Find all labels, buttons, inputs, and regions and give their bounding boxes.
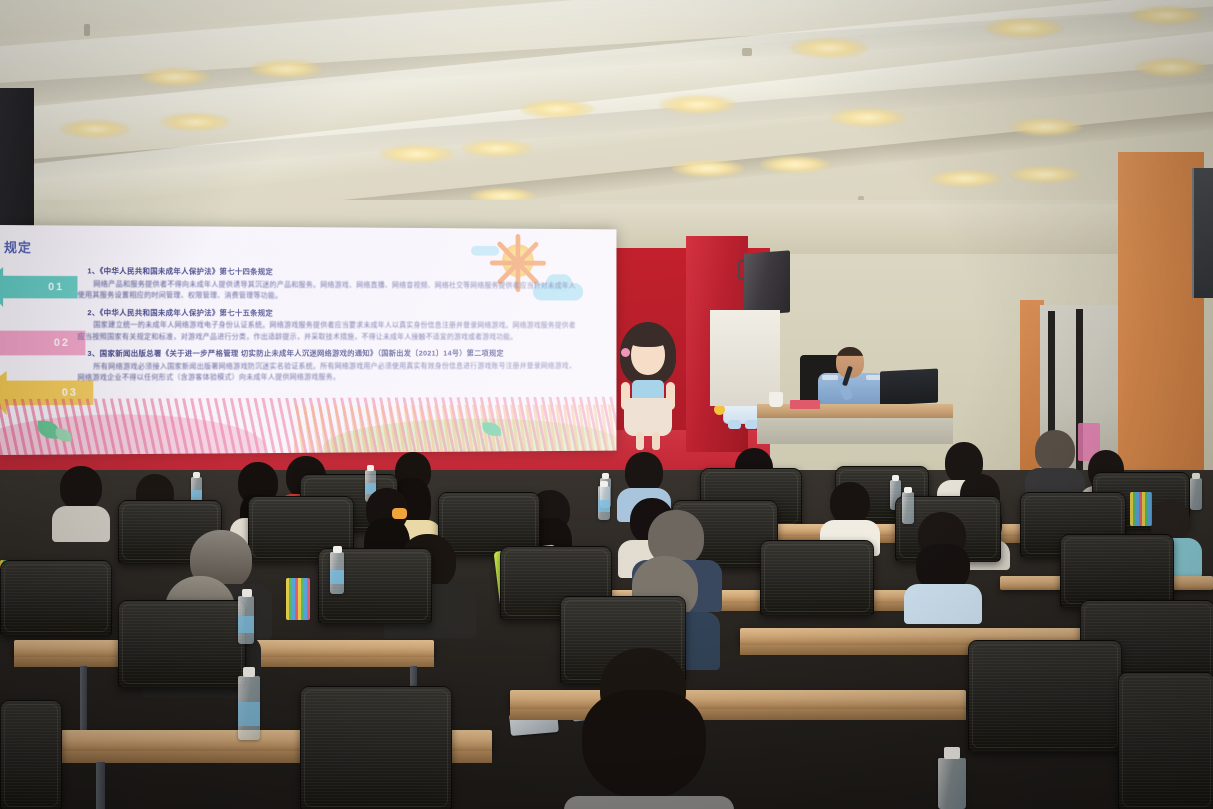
projection-screen: 规定 01 02 03 1、《中华人民共和国未成年人保护法》第七十四条规定 网络… (0, 225, 616, 455)
water-bottle (1190, 478, 1202, 510)
chair[interactable] (968, 640, 1122, 752)
slide-section-2-body: 国家建立统一的未成年人网络游戏电子身份认证系统。网络游戏服务提供者应当要求未成年… (78, 319, 576, 342)
slide-section-1-body: 网络产品和服务提供者不得向未成年人提供诱导其沉迷的产品和服务。网络游戏、网络直播… (78, 278, 576, 302)
pen-holder (286, 578, 310, 620)
desk-leg (80, 666, 87, 736)
water-bottle (238, 596, 254, 644)
ceiling-downlight (930, 170, 1002, 187)
ceiling-downlight (520, 100, 594, 118)
hair-tie (392, 508, 407, 519)
ceiling-downlight (672, 160, 744, 177)
chair[interactable] (300, 686, 452, 809)
desk-leg (96, 762, 105, 809)
chair[interactable] (1060, 534, 1174, 608)
chair[interactable] (760, 540, 874, 616)
uniform-epaulette (822, 375, 838, 380)
ceiling-downlight (1010, 118, 1082, 136)
pen-holder (1130, 492, 1152, 526)
slide-marker-03-label: 03 (62, 387, 78, 399)
ceiling-downlight (790, 38, 868, 58)
desk (510, 690, 966, 710)
water-bottle (938, 758, 966, 809)
ceiling-downlight (60, 120, 130, 138)
sprinkler-head (84, 24, 90, 36)
slide-section-2-heading: 2、《中华人民共和国未成年人保护法》第七十五条规定 (87, 307, 575, 319)
presenter-desk-front (757, 418, 953, 444)
ceiling-downlight (830, 108, 906, 127)
wall-speaker-icon (744, 250, 790, 315)
laptop[interactable] (880, 368, 938, 405)
chair[interactable] (0, 700, 62, 809)
desk-edge (510, 709, 966, 720)
cartoon-girl-cutout (612, 322, 684, 450)
ceiling-downlight (250, 60, 322, 78)
water-bottle (238, 676, 260, 740)
desk-nameplate (790, 400, 820, 409)
ceiling-downlight (985, 18, 1063, 38)
hair-flower-icon (621, 348, 630, 357)
water-bottle (330, 552, 344, 594)
slide-stripe-decor (294, 404, 615, 452)
ceiling-downlight (462, 140, 532, 157)
slide-body: 1、《中华人民共和国未成年人保护法》第七十四条规定 网络产品和服务提供者不得向未… (78, 265, 576, 389)
slide-marker-02-label: 02 (54, 337, 70, 349)
chair[interactable] (118, 600, 246, 688)
ceiling-downlight (1010, 166, 1080, 183)
lecture-room-photo: 规定 01 02 03 1、《中华人民共和国未成年人保护法》第七十四条规定 网络… (0, 0, 1213, 809)
wall-panel-upper (560, 204, 1213, 254)
smoke-detector (742, 48, 752, 56)
ceiling-downlight (760, 156, 830, 173)
ceiling-downlight (140, 68, 210, 86)
slide-section-3-body: 所有网络游戏必须接入国家新闻出版署网络游戏防沉迷实名验证系统。所有网络游戏用户必… (78, 360, 576, 383)
ceiling-downlight (660, 95, 736, 114)
water-bottle (598, 486, 610, 520)
wall-display-panel (1192, 168, 1213, 298)
chair[interactable] (0, 560, 112, 636)
slide-heading: 规定 (4, 237, 32, 256)
ceiling-downlight (380, 145, 454, 163)
ceiling-downlight (1135, 58, 1207, 77)
cloud-icon (471, 246, 499, 256)
slide-marker-01-label: 01 (48, 281, 64, 293)
slide-section-3-heading: 3、国家新闻出版总署《关于进一步严格管理 切实防止未成年人沉迷网络游戏的通知》（… (87, 348, 575, 360)
paper-cup (769, 392, 783, 407)
water-bottle (902, 492, 914, 524)
slide-section-1-heading: 1、《中华人民共和国未成年人保护法》第七十四条规定 (87, 265, 575, 279)
slide-marker-02: 02 (0, 321, 85, 365)
chair[interactable] (1118, 672, 1213, 809)
slide-marker-01: 01 (0, 267, 78, 307)
ceiling-downlight (160, 113, 230, 131)
ceiling-downlight (1130, 6, 1204, 25)
